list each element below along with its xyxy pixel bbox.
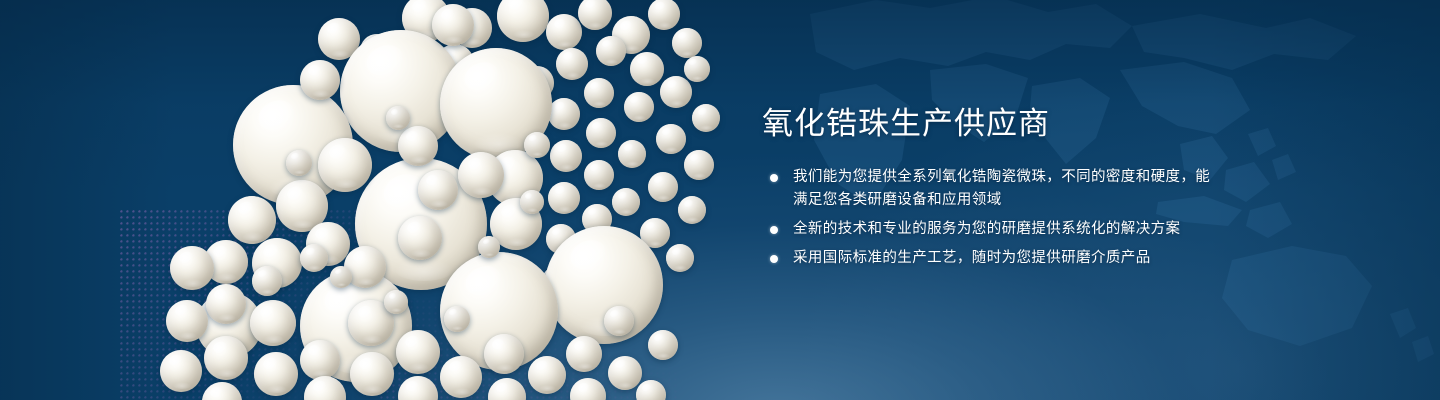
feature-list-item-text: 我们能为您提供全系列氧化锆陶瓷微珠，不同的密度和硬度，能满足您各类研磨设备和应用… bbox=[793, 169, 1210, 208]
bullet-dot-icon bbox=[770, 255, 778, 263]
feature-list-item: 我们能为您提供全系列氧化锆陶瓷微珠，不同的密度和硬度，能满足您各类研磨设备和应用… bbox=[762, 166, 1213, 212]
feature-list-item: 采用国际标准的生产工艺，随时为您提供研磨介质产品 bbox=[762, 247, 1213, 270]
feature-list-item: 全新的技术和专业的服务为您的研磨提供系统化的解决方案 bbox=[762, 218, 1213, 241]
banner-copy: 氧化锆珠生产供应商 我们能为您提供全系列氧化锆陶瓷微珠，不同的密度和硬度，能满足… bbox=[762, 104, 1362, 270]
banner-headline: 氧化锆珠生产供应商 bbox=[762, 104, 1362, 144]
banner-feature-list: 我们能为您提供全系列氧化锆陶瓷微珠，不同的密度和硬度，能满足您各类研磨设备和应用… bbox=[762, 166, 1362, 270]
feature-list-item-text: 全新的技术和专业的服务为您的研磨提供系统化的解决方案 bbox=[793, 221, 1180, 237]
hero-banner: 氧化锆珠生产供应商 我们能为您提供全系列氧化锆陶瓷微珠，不同的密度和硬度，能满足… bbox=[0, 0, 1440, 400]
feature-list-item-text: 采用国际标准的生产工艺，随时为您提供研磨介质产品 bbox=[793, 250, 1151, 266]
bullet-dot-icon bbox=[770, 226, 778, 234]
bullet-dot-icon bbox=[770, 174, 778, 182]
